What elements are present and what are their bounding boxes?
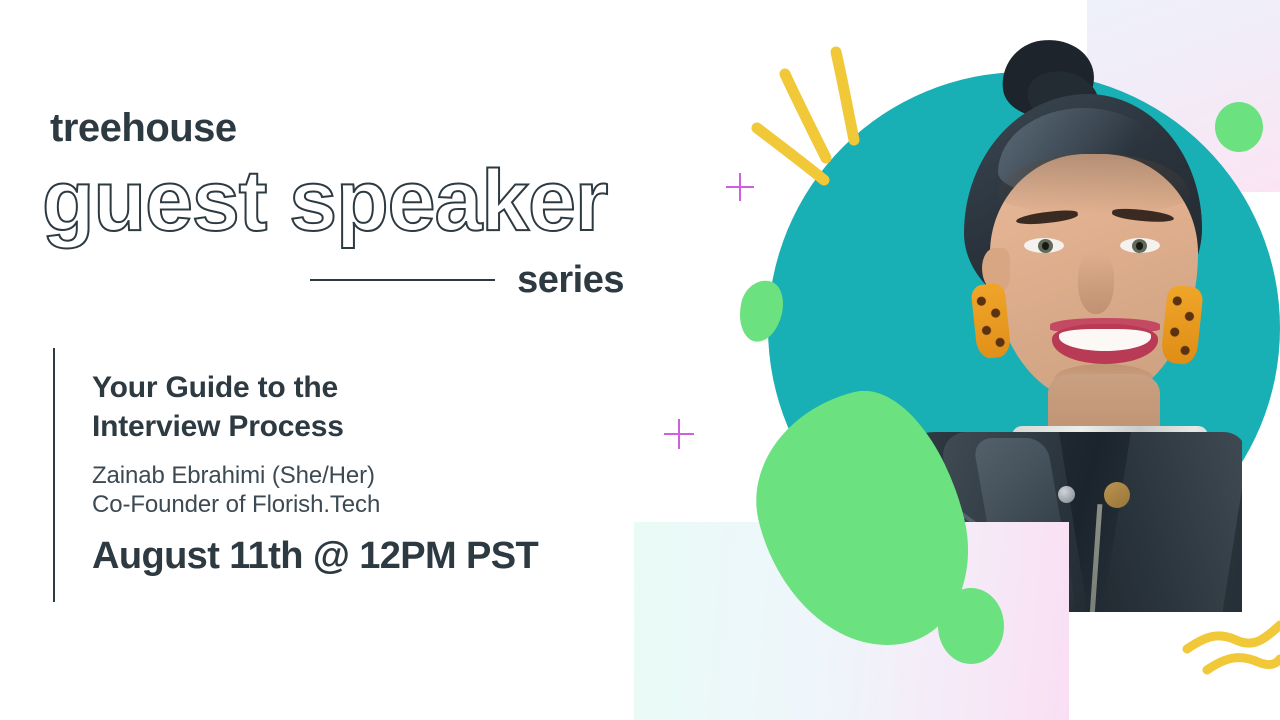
pupil-right	[1136, 242, 1143, 250]
session-datetime: August 11th @ 12PM PST	[92, 534, 538, 580]
session-title: Your Guide to the Interview Process	[92, 368, 572, 446]
earring-right	[1160, 284, 1204, 365]
necklace	[1104, 482, 1130, 508]
pupil-left	[1042, 242, 1049, 250]
plus-mark-upper	[726, 173, 754, 201]
series-label: series	[517, 261, 624, 299]
series-row: series	[310, 258, 624, 302]
vertical-accent-rule	[53, 348, 55, 602]
headline-outline-text: guest speaker	[42, 158, 607, 244]
brand-wordmark: treehouse	[50, 108, 237, 148]
speaker-name: Zainab Ebrahimi (She/Her)	[92, 460, 375, 492]
green-circle-top-right	[1215, 102, 1263, 152]
series-divider-rule	[310, 279, 495, 281]
jacket-snap-button	[1058, 486, 1075, 503]
teeth	[1059, 329, 1151, 351]
speaker-role: Co-Founder of Florish.Tech	[92, 489, 380, 521]
session-title-line-1: Your Guide to the	[92, 368, 572, 407]
text-column: treehouse guest speaker series Your Guid…	[0, 0, 660, 720]
plus-mark-lower	[664, 419, 694, 449]
green-circle-small	[938, 588, 1004, 664]
session-title-line-2: Interview Process	[92, 407, 572, 446]
nose	[1078, 252, 1114, 314]
slide-canvas: treehouse guest speaker series Your Guid…	[0, 0, 1280, 720]
